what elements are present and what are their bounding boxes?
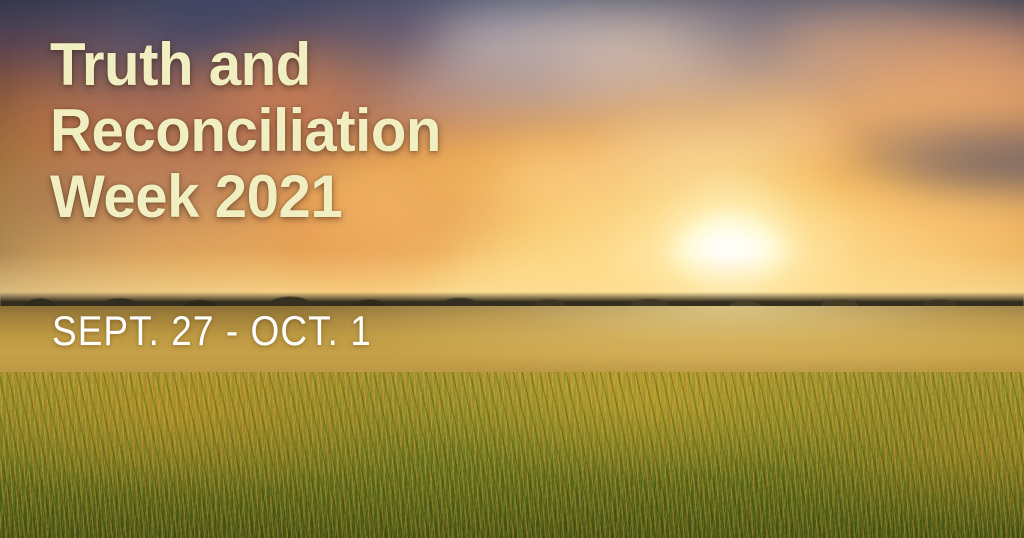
date-range-subtitle: SEPT. 27 - OCT. 1	[52, 308, 372, 354]
page-title: Truth and Reconciliation Week 2021	[50, 32, 651, 230]
banner-root: Truth and Reconciliation Week 2021 SEPT.…	[0, 0, 1024, 538]
foreground-grass-region	[0, 372, 1024, 538]
grass-shadow	[0, 372, 1024, 538]
